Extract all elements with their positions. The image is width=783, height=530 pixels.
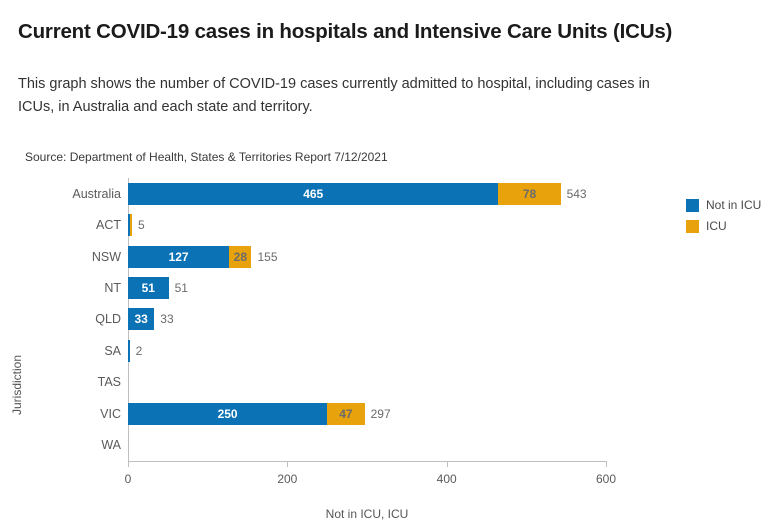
bar-segment-icu[interactable]: 28 [229,246,251,268]
stacked-bar[interactable]: 25047 [128,403,365,425]
bar-segment-not-in-icu[interactable]: 465 [128,183,498,205]
bar-total-label: 51 [175,281,188,295]
y-axis-category-label: NSW [92,250,121,264]
legend-swatch-icu [686,220,699,233]
legend-label-not-in-icu: Not in ICU [706,198,761,212]
bar-segment-not-in-icu[interactable]: 33 [128,308,154,330]
chart-row: WA [128,430,606,461]
bar-total-label: 543 [567,187,587,201]
y-axis-category-label: ACT [96,218,121,232]
source-note: Source: Department of Health, States & T… [25,150,388,164]
chart-row: QLD3333 [128,304,606,335]
x-axis-title: Not in ICU, ICU [128,507,606,521]
x-axis-tick [287,461,288,467]
chart-row: NT5151 [128,272,606,303]
page-title: Current COVID-19 cases in hospitals and … [18,20,778,44]
y-axis-category-label: TAS [98,375,121,389]
y-axis-category-label: Australia [72,187,121,201]
chart-row: ACT5 [128,209,606,240]
legend-label-icu: ICU [706,219,727,233]
x-axis-line [128,461,606,462]
x-axis-tick [606,461,607,467]
bar-total-label: 297 [371,407,391,421]
stacked-bar[interactable]: 46578 [128,183,561,205]
bar-total-label: 5 [138,218,145,232]
y-axis-category-label: QLD [95,312,121,326]
plot-area: Australia46578543ACT5NSW12728155NT5151QL… [128,178,606,461]
stacked-bar[interactable]: 33 [128,308,154,330]
stacked-bar[interactable] [128,214,132,236]
y-axis-category-label: SA [104,344,121,358]
x-axis-tick-label: 0 [125,472,132,486]
covid-hospital-chart-page: Current COVID-19 cases in hospitals and … [0,0,783,530]
bar-segment-icu[interactable]: 78 [498,183,560,205]
bar-segment-not-in-icu[interactable]: 250 [128,403,327,425]
stacked-bar[interactable] [128,340,130,362]
intro-paragraph: This graph shows the number of COVID-19 … [18,73,678,119]
y-axis-title: Jurisdiction [10,355,24,415]
bar-segment-not-in-icu[interactable] [128,340,130,362]
bar-segment-not-in-icu[interactable]: 51 [128,277,169,299]
chart-row: Australia46578543 [128,178,606,209]
legend-item-not-in-icu[interactable]: Not in ICU [686,198,761,212]
y-axis-category-label: NT [104,281,121,295]
chart-row: VIC25047297 [128,398,606,429]
bar-total-label: 33 [160,312,173,326]
legend-swatch-not-in-icu [686,199,699,212]
x-axis-tick [128,461,129,467]
chart-row: TAS [128,367,606,398]
x-axis-tick-label: 400 [437,472,457,486]
bar-total-label: 155 [257,250,277,264]
stacked-bar[interactable]: 51 [128,277,169,299]
chart-container: Jurisdiction Not in ICU, ICU 0200400600 … [0,175,783,530]
stacked-bar[interactable]: 12728 [128,246,251,268]
x-axis-tick-label: 200 [277,472,297,486]
bar-segment-icu[interactable] [130,214,132,236]
bar-segment-icu[interactable]: 47 [327,403,364,425]
chart-row: NSW12728155 [128,241,606,272]
x-axis-tick [447,461,448,467]
chart-row: SA2 [128,335,606,366]
legend-item-icu[interactable]: ICU [686,219,761,233]
x-axis-tick-label: 600 [596,472,616,486]
y-axis-category-label: WA [101,438,121,452]
bar-segment-not-in-icu[interactable]: 127 [128,246,229,268]
y-axis-category-label: VIC [100,407,121,421]
chart-legend: Not in ICU ICU [686,198,761,240]
bar-total-label: 2 [136,344,143,358]
